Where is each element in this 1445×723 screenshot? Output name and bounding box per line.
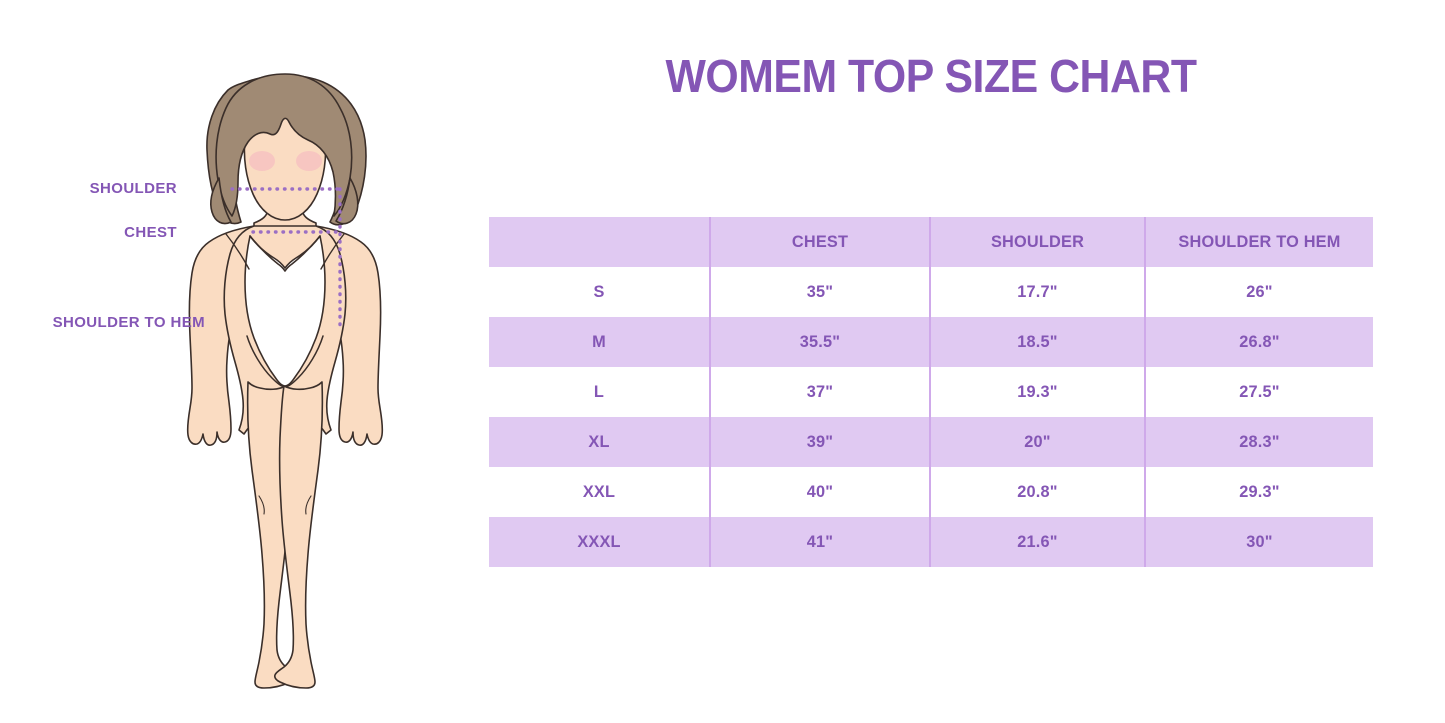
cell-size: XL	[493, 417, 705, 467]
table-header-chest: CHEST	[714, 217, 925, 267]
table-header-size	[493, 217, 705, 267]
cell-shoulder-to-hem: 27.5"	[1150, 367, 1369, 417]
table-row: L 37" 19.3" 27.5"	[489, 367, 1373, 417]
measurement-label-chest: CHEST	[124, 224, 177, 241]
cell-shoulder-to-hem: 26"	[1150, 267, 1369, 317]
cell-shoulder-to-hem: 29.3"	[1150, 467, 1369, 517]
size-chart-table: CHEST SHOULDER SHOULDER TO HEM S 35" 17.…	[489, 217, 1373, 567]
table-row: S 35" 17.7" 26"	[489, 267, 1373, 317]
table-header-shoulder: SHOULDER	[934, 217, 1140, 267]
measurement-label-shoulder: SHOULDER	[90, 180, 177, 197]
cell-shoulder-to-hem: 30"	[1150, 517, 1369, 567]
cell-shoulder: 20.8"	[934, 467, 1140, 517]
measurement-label-shoulder-to-hem: SHOULDER TO HEM	[53, 314, 205, 331]
cell-size: S	[493, 267, 705, 317]
table-row: XXXL 41" 21.6" 30"	[489, 517, 1373, 567]
cell-size: M	[493, 317, 705, 367]
blush-right	[296, 151, 322, 171]
figure-group	[188, 74, 383, 688]
table-header-shoulder-to-hem: SHOULDER TO HEM	[1150, 217, 1369, 267]
cell-shoulder-to-hem: 28.3"	[1150, 417, 1369, 467]
size-chart-page: WOMEM TOP SIZE CHART	[0, 0, 1445, 723]
page-title: WOMEM TOP SIZE CHART	[520, 52, 1342, 100]
cell-shoulder: 17.7"	[934, 267, 1140, 317]
table-header-row: CHEST SHOULDER SHOULDER TO HEM	[489, 217, 1373, 267]
cell-size: L	[493, 367, 705, 417]
cell-shoulder-to-hem: 26.8"	[1150, 317, 1369, 367]
table-body: S 35" 17.7" 26" M 35.5" 18.5" 26.8" L 37…	[489, 267, 1373, 567]
cell-size: XXL	[493, 467, 705, 517]
cell-chest: 37"	[714, 367, 925, 417]
table-row: XXL 40" 20.8" 29.3"	[489, 467, 1373, 517]
cell-chest: 39"	[714, 417, 925, 467]
table-row: M 35.5" 18.5" 26.8"	[489, 317, 1373, 367]
cell-chest: 35"	[714, 267, 925, 317]
cell-chest: 35.5"	[714, 317, 925, 367]
cell-shoulder: 21.6"	[934, 517, 1140, 567]
blush-left	[249, 151, 275, 171]
cell-shoulder: 20"	[934, 417, 1140, 467]
cell-chest: 40"	[714, 467, 925, 517]
cell-size: XXXL	[493, 517, 705, 567]
cell-shoulder: 18.5"	[934, 317, 1140, 367]
table-row: XL 39" 20" 28.3"	[489, 417, 1373, 467]
cell-shoulder: 19.3"	[934, 367, 1140, 417]
female-figure-illustration	[0, 30, 470, 710]
cell-chest: 41"	[714, 517, 925, 567]
